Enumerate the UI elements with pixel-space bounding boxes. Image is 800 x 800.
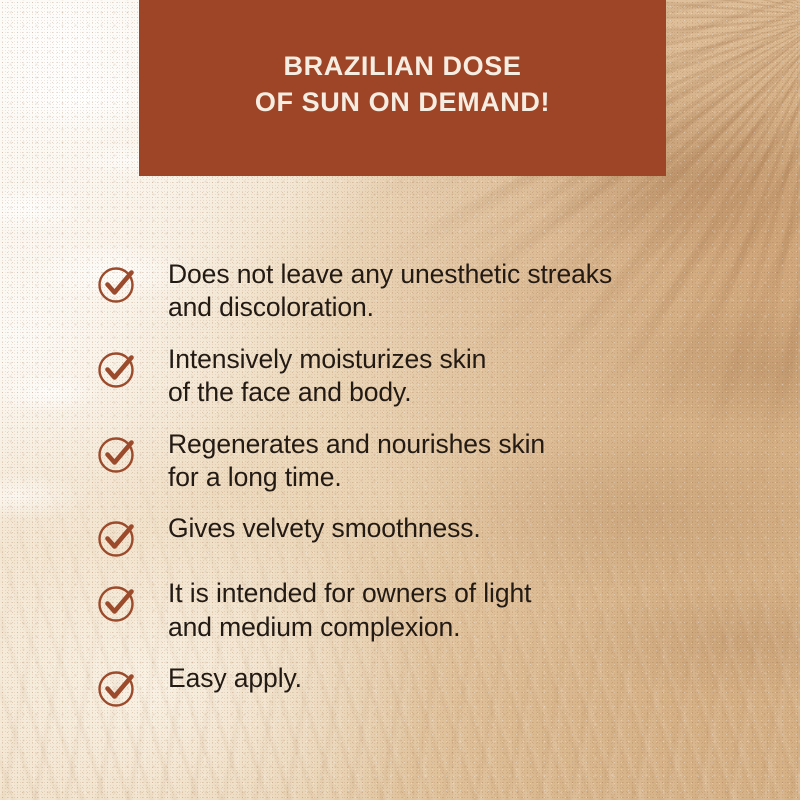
benefit-text: Intensively moisturizes skin of the face… [168, 343, 486, 410]
check-circle-icon [96, 512, 168, 559]
check-circle-icon [96, 343, 168, 390]
banner-title: BRAZILIAN DOSE OF SUN ON DEMAND! [255, 49, 550, 120]
check-circle-icon [96, 258, 168, 305]
check-circle-icon [96, 428, 168, 475]
list-item: Intensively moisturizes skin of the face… [96, 343, 796, 410]
benefit-text: Does not leave any unesthetic streaks an… [168, 258, 612, 325]
list-item: Easy apply. [96, 662, 796, 709]
list-item: Regenerates and nourishes skin for a lon… [96, 428, 796, 495]
header-banner: BRAZILIAN DOSE OF SUN ON DEMAND! [139, 0, 666, 176]
benefits-list: Does not leave any unesthetic streaks an… [96, 258, 796, 727]
list-item: Does not leave any unesthetic streaks an… [96, 258, 796, 325]
check-circle-icon [96, 577, 168, 624]
list-item: Gives velvety smoothness. [96, 512, 796, 559]
benefit-text: Regenerates and nourishes skin for a lon… [168, 428, 545, 495]
check-circle-icon [96, 662, 168, 709]
benefit-text: Gives velvety smoothness. [168, 512, 481, 545]
benefit-text: Easy apply. [168, 662, 302, 695]
list-item: It is intended for owners of light and m… [96, 577, 796, 644]
benefit-text: It is intended for owners of light and m… [168, 577, 531, 644]
